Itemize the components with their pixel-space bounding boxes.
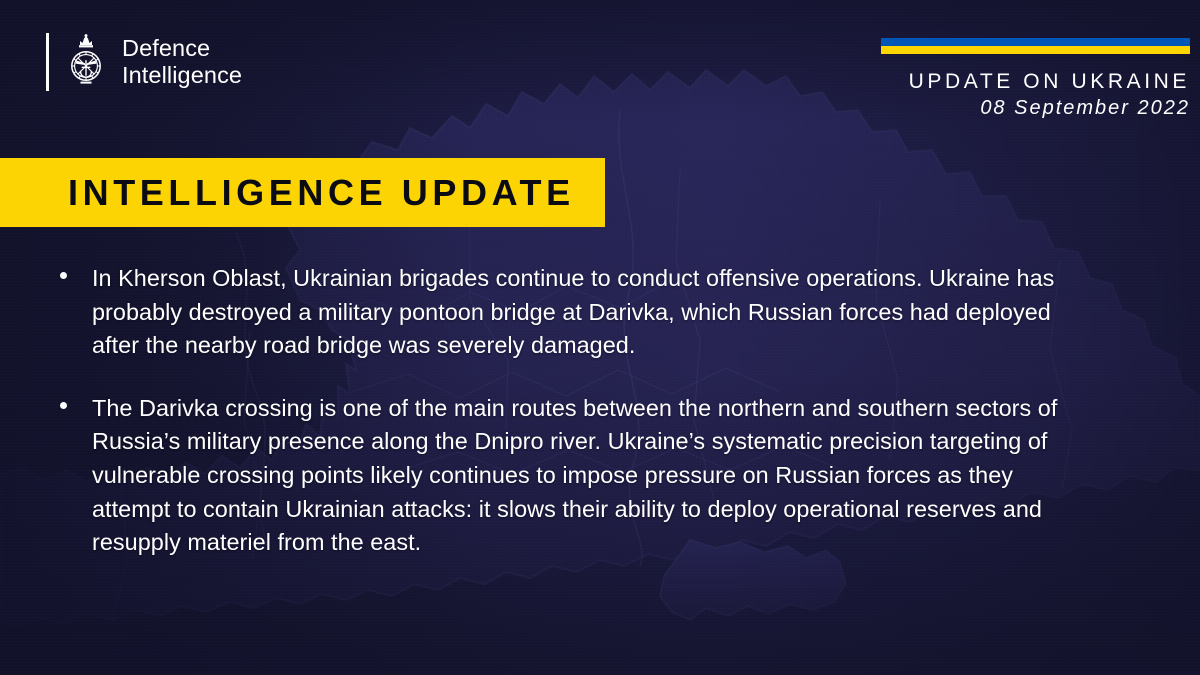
logo-divider-rule <box>46 33 49 91</box>
list-item: The Darivka crossing is one of the main … <box>60 392 1070 560</box>
update-heading-block: UPDATE ON UKRAINE 08 September 2022 <box>909 70 1190 121</box>
intelligence-update-banner: INTELLIGENCE UPDATE <box>0 158 605 227</box>
bullet-dot-icon <box>60 392 92 409</box>
brand-line-2: Intelligence <box>122 62 242 89</box>
update-date: 08 September 2022 <box>909 95 1190 121</box>
bullet-list: In Kherson Oblast, Ukrainian brigades co… <box>60 262 1070 589</box>
brand-wordmark: Defence Intelligence <box>122 35 242 89</box>
banner-title: INTELLIGENCE UPDATE <box>68 172 575 214</box>
defence-intelligence-crest-icon <box>63 33 109 91</box>
intelligence-update-graphic: Defence Intelligence UPDATE ON UKRAINE 0… <box>0 0 1200 675</box>
ukraine-flag-bar-icon <box>881 38 1190 54</box>
bullet-dot-icon <box>60 262 92 279</box>
flag-stripe-yellow <box>881 46 1190 54</box>
list-item: In Kherson Oblast, Ukrainian brigades co… <box>60 262 1070 363</box>
defence-intelligence-logo: Defence Intelligence <box>46 33 242 91</box>
flag-stripe-blue <box>881 38 1190 46</box>
brand-line-1: Defence <box>122 35 242 62</box>
update-title: UPDATE ON UKRAINE <box>909 70 1190 94</box>
bullet-text: In Kherson Oblast, Ukrainian brigades co… <box>92 262 1070 363</box>
bullet-text: The Darivka crossing is one of the main … <box>92 392 1070 560</box>
